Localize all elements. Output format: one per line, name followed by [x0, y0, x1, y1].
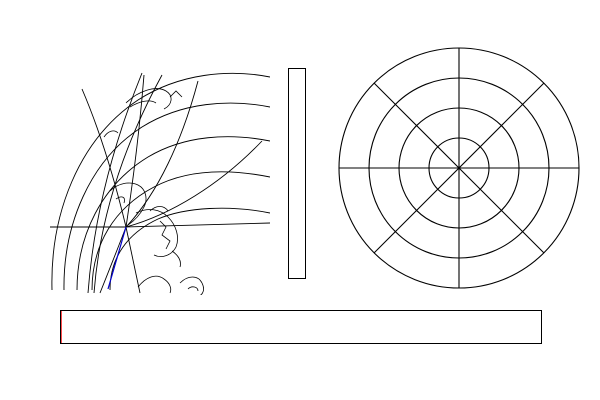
strip-chart-ylabel: [6, 300, 20, 352]
status-panel: [0, 364, 600, 396]
strip-chart-svg: [61, 311, 541, 343]
status-row-1: [0, 364, 600, 380]
gc-altitude-strip-chart[interactable]: [60, 310, 542, 344]
satellite-track-line: [108, 227, 126, 289]
status-row-2: [0, 380, 600, 396]
colorbar-gradient: [289, 69, 305, 278]
coastline-outline: [104, 89, 204, 295]
geographic-plot[interactable]: [30, 45, 270, 295]
apex-polar-plot-svg: [336, 45, 586, 295]
intensity-colorbar[interactable]: [288, 68, 306, 279]
colorbar-axis-title: [255, 70, 271, 275]
geographic-plot-svg: [30, 45, 270, 295]
apex-polar-plot[interactable]: [336, 45, 586, 295]
